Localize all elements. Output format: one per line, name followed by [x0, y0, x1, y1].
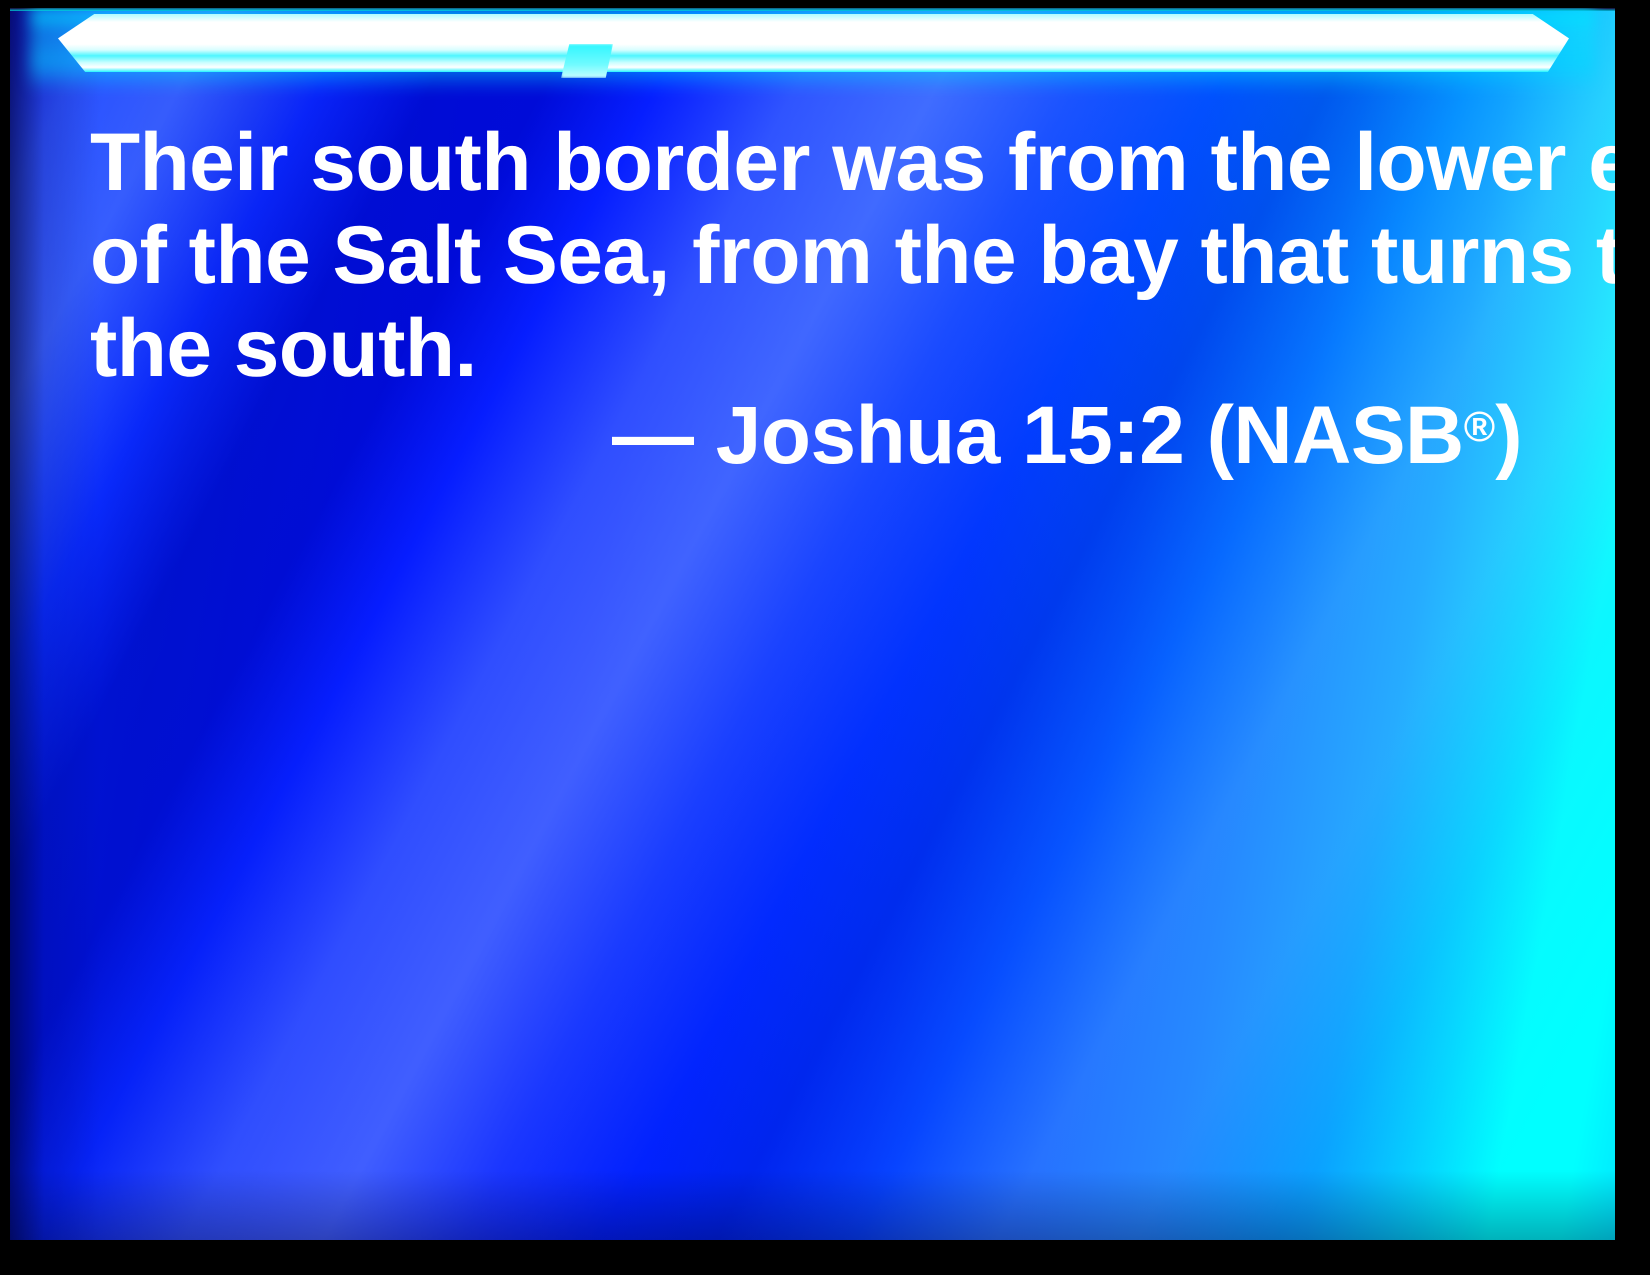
banner-notch-accent [561, 44, 613, 78]
slide-artwork: Their south border was from the lower en… [10, 8, 1615, 1240]
attribution-translation: NASB [1233, 390, 1463, 481]
attribution-spacer-3 [1184, 390, 1206, 481]
top-banner [10, 8, 1615, 100]
verse-slide: Their south border was from the lower en… [0, 0, 1650, 1275]
attribution-chapter-verse: 15:2 [1022, 390, 1184, 481]
attribution-spacer-1 [693, 390, 715, 481]
attribution-em-dash: — [612, 390, 694, 481]
attribution-close-paren: ) [1495, 390, 1522, 481]
attribution-open-paren: ( [1207, 390, 1234, 481]
registered-trademark-icon: ® [1464, 403, 1495, 451]
verse-attribution: — Joshua 15:2 (NASB®) [90, 381, 1522, 482]
banner-bar [58, 14, 1569, 72]
verse-text-block: Their south border was from the lower en… [90, 116, 1520, 395]
attribution-book: Joshua [716, 390, 1000, 481]
verse-line-1: Their south border was from the lower en… [90, 116, 1520, 209]
verse-line-2: of the Salt Sea, from the bay that turns… [90, 209, 1520, 302]
attribution-spacer-2 [1000, 390, 1022, 481]
